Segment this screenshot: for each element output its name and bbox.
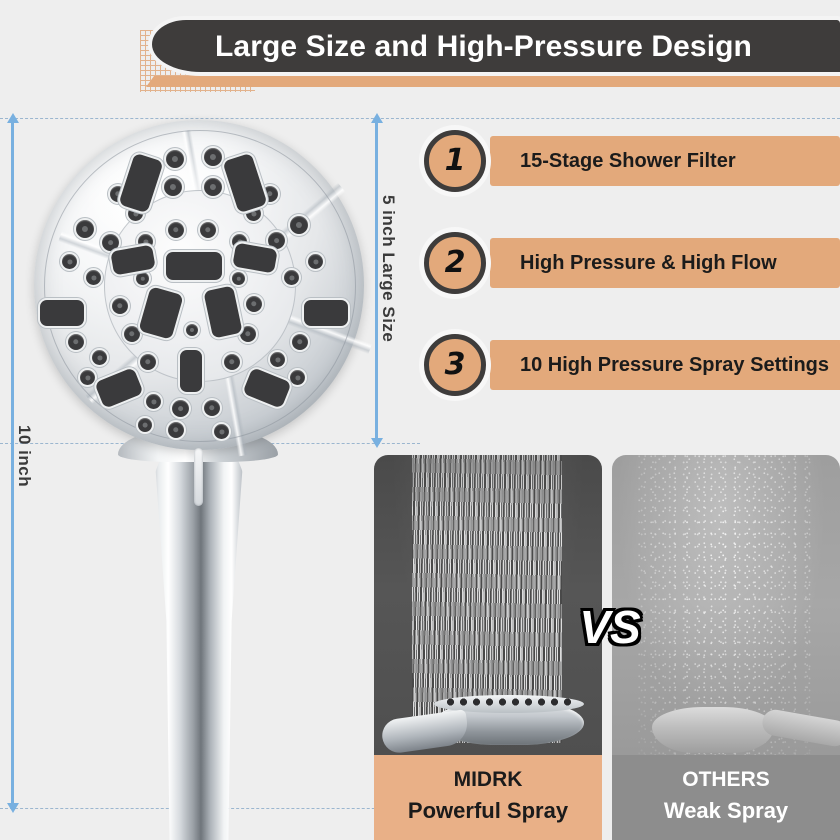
nozzle xyxy=(68,334,84,350)
jet-nozzle xyxy=(40,300,84,326)
feature-badge: 1 xyxy=(424,130,486,192)
nozzle xyxy=(204,178,222,196)
nozzle xyxy=(172,400,189,417)
nozzle xyxy=(76,220,94,238)
others-label-block: OTHERS Weak Spray xyxy=(612,755,840,840)
width-dimension-label: 5 inch Large Size xyxy=(378,195,398,342)
nozzle xyxy=(232,272,245,285)
nozzle xyxy=(204,148,222,166)
jet-nozzle xyxy=(180,350,202,392)
other-shower-head-photo xyxy=(642,697,840,755)
nozzle xyxy=(140,354,156,370)
nozzle xyxy=(204,400,220,416)
nozzle xyxy=(240,326,256,342)
comparison-panel-others: OTHERS Weak Spray xyxy=(612,455,840,840)
weak-spray-handle xyxy=(760,708,840,749)
feature-label: High Pressure & High Flow xyxy=(520,238,777,288)
nozzle xyxy=(166,150,184,168)
feature-label: 15-Stage Shower Filter xyxy=(520,136,736,186)
brand-name: MIDRK xyxy=(374,765,602,795)
nozzle xyxy=(308,254,323,269)
brand-subtitle: Weak Spray xyxy=(612,795,840,827)
nozzle xyxy=(292,334,308,350)
weak-spray-photo xyxy=(612,455,840,755)
nozzle xyxy=(86,270,101,285)
feature-number: 3 xyxy=(429,339,481,391)
nozzle xyxy=(214,424,229,439)
header-banner: Large Size and High-Pressure Design xyxy=(0,0,840,105)
jet-nozzle xyxy=(304,300,348,326)
page-title: Large Size and High-Pressure Design xyxy=(215,26,835,68)
feature-label: 10 High Pressure Spray Settings xyxy=(520,340,829,390)
spray-grip xyxy=(380,709,470,755)
nozzle xyxy=(146,394,161,409)
nozzle xyxy=(290,216,308,234)
nozzle xyxy=(124,326,140,342)
jet-nozzle xyxy=(166,252,222,280)
nozzle xyxy=(224,354,240,370)
nozzle xyxy=(186,324,198,336)
nozzle xyxy=(168,422,184,438)
shower-head-photo xyxy=(382,693,594,755)
nozzle xyxy=(136,272,149,285)
handle-slot xyxy=(194,448,203,506)
shower-head-product-image xyxy=(18,112,378,812)
nozzle xyxy=(164,178,182,196)
brand-subtitle: Powerful Spray xyxy=(374,795,602,827)
nozzle xyxy=(112,298,128,314)
nozzle xyxy=(62,254,77,269)
feature-number: 2 xyxy=(429,237,481,289)
nozzle xyxy=(270,352,285,367)
product-infographic: Large Size and High-Pressure Design 10 i… xyxy=(0,0,840,840)
nozzle xyxy=(138,418,152,432)
nozzle xyxy=(200,222,216,238)
nozzle xyxy=(290,370,305,385)
brand-name: OTHERS xyxy=(612,765,840,795)
nozzle xyxy=(80,370,95,385)
nozzle xyxy=(246,296,262,312)
feature-badge: 3 xyxy=(424,334,486,396)
nozzle xyxy=(102,234,119,251)
vs-badge: VS xyxy=(575,598,645,656)
comparison-panel-midrk: MIDRK Powerful Spray xyxy=(374,455,602,840)
spray-nozzle-dots xyxy=(444,697,574,707)
weak-spray-disc xyxy=(652,707,774,753)
feature-number: 1 xyxy=(429,135,481,187)
nozzle xyxy=(284,270,299,285)
nozzle xyxy=(268,232,285,249)
banner-accent-stripe xyxy=(190,76,840,87)
nozzle xyxy=(168,222,184,238)
feature-badge: 2 xyxy=(424,232,486,294)
nozzle xyxy=(92,350,107,365)
powerful-spray-photo xyxy=(374,455,602,755)
midrk-label-block: MIDRK Powerful Spray xyxy=(374,755,602,840)
